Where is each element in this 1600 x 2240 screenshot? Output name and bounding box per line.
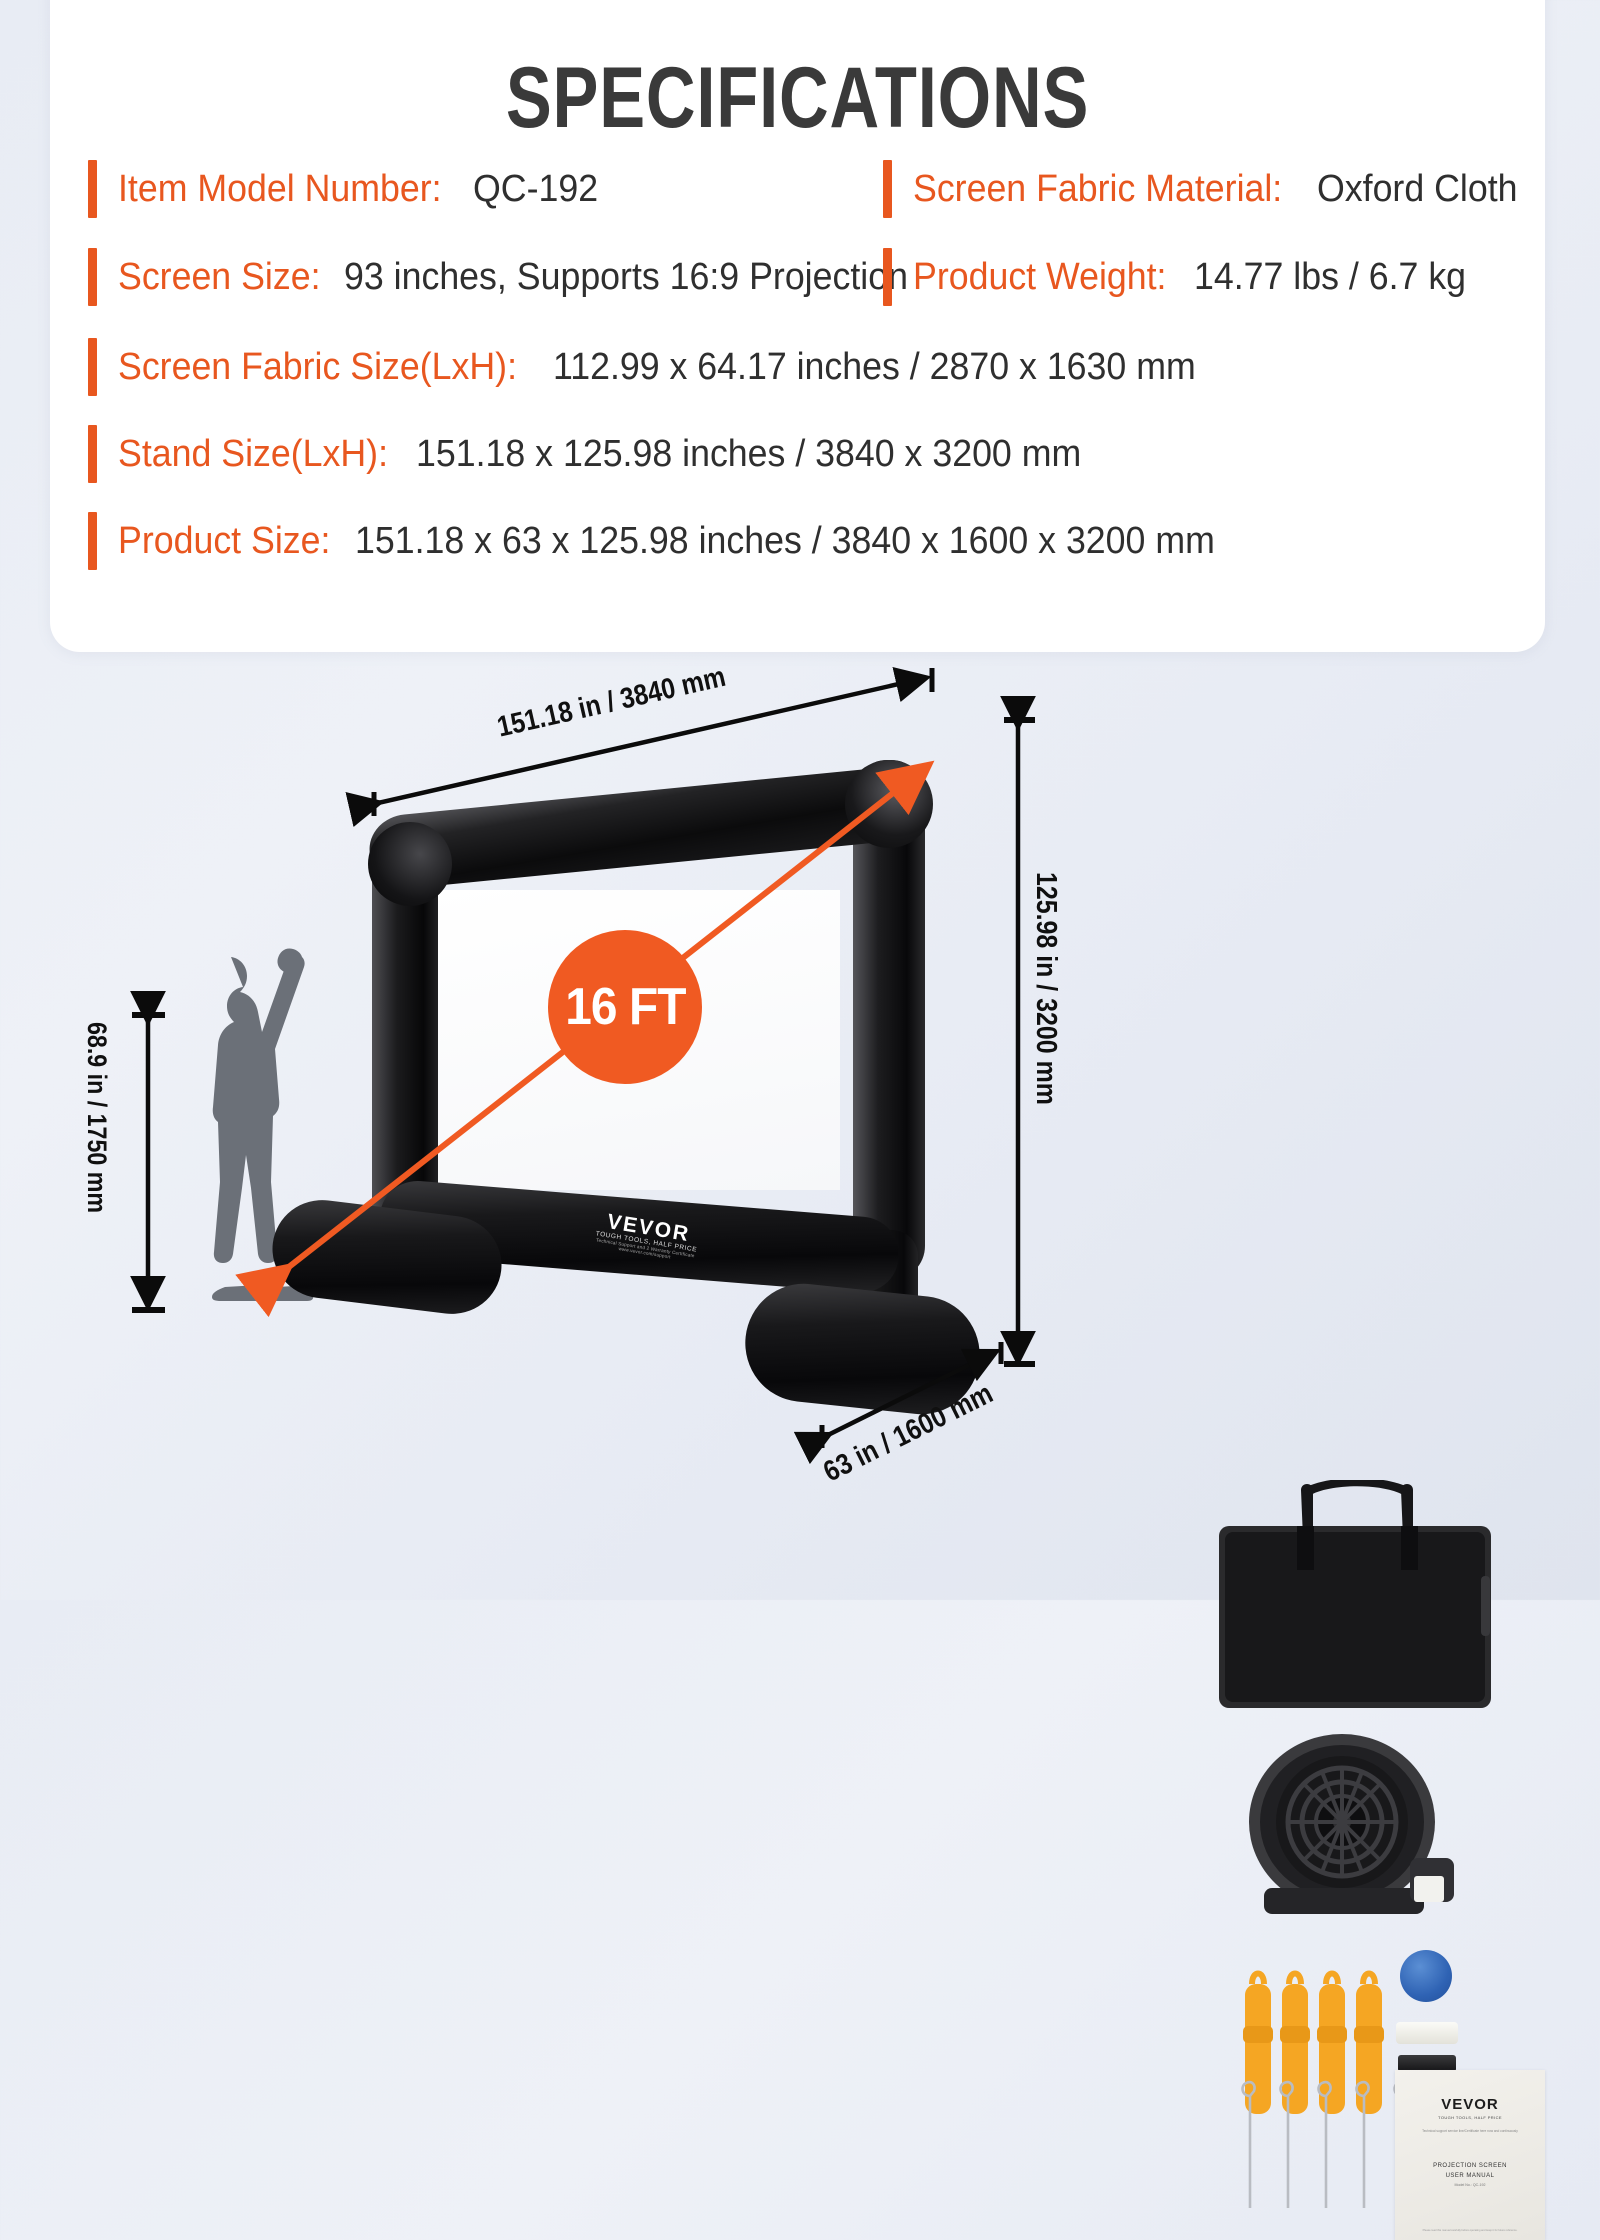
accent-tick-icon	[88, 248, 97, 306]
manual-model-line: Model No.: QC-192	[1455, 2183, 1486, 2187]
accent-tick-icon	[883, 248, 892, 306]
spec-label: Screen Fabric Material:	[913, 168, 1282, 211]
spec-row-product-weight: Product Weight: 14.77 lbs / 6.7 kg	[883, 248, 1483, 306]
spec-label: Product Weight:	[913, 256, 1166, 299]
spec-value: 112.99 x 64.17 inches / 2870 x 1630 mm	[553, 346, 1196, 389]
accent-tick-icon	[88, 160, 97, 218]
badge-label: 16 FT	[565, 977, 685, 1037]
spec-value: 14.77 lbs / 6.7 kg	[1194, 256, 1466, 299]
manual-title-line-1: PROJECTION SCREEN	[1433, 2163, 1507, 2169]
spec-label: Product Size:	[118, 520, 330, 563]
manual-tagline: TOUGH TOOLS, HALF PRICE	[1438, 2115, 1502, 2120]
spec-value: 151.18 x 63 x 125.98 inches / 3840 x 160…	[355, 520, 1215, 563]
spec-row-screen-fabric-material: Screen Fabric Material: Oxford Cloth	[883, 160, 1530, 218]
manual-brand: VEVOR	[1441, 2096, 1499, 2113]
frame-top-beam	[366, 763, 933, 891]
spec-row-stand-size: Stand Size(LxH): 151.18 x 125.98 inches …	[88, 425, 1124, 483]
repair-patch-kit	[1400, 1950, 1452, 2002]
page-title: SPECIFICATIONS	[200, 55, 1396, 141]
person-height-dimension-label: 68.9 in / 1750 mm	[81, 1022, 112, 1213]
spec-value: QC-192	[473, 168, 598, 211]
spec-row-product-size: Product Size: 151.18 x 63 x 125.98 inche…	[88, 512, 1270, 570]
manual-thin-line: Technical support service line/Certifica…	[1422, 2129, 1518, 2133]
spec-label: Stand Size(LxH):	[118, 433, 388, 476]
ground-stake	[1238, 2080, 1262, 2210]
spec-label: Item Model Number:	[118, 168, 442, 211]
spec-row-screen-size: Screen Size: 93 inches, Supports 16:9 Pr…	[88, 248, 944, 306]
frame-corner-top-right	[845, 760, 933, 848]
accent-tick-icon	[883, 160, 892, 218]
manual-footer: Please read this manual carefully before…	[1423, 2229, 1518, 2233]
accent-tick-icon	[88, 338, 97, 396]
frame-corner-top-left	[368, 822, 452, 906]
spec-label: Screen Fabric Size(LxH):	[118, 346, 517, 389]
spec-value: 151.18 x 125.98 inches / 3840 x 3200 mm	[416, 433, 1081, 476]
ground-stake	[1276, 2080, 1300, 2210]
product-illustration: VEVOR TOUGH TOOLS, HALF PRICE Technical …	[0, 650, 1600, 1600]
spec-row-item-model-number: Item Model Number: QC-192	[88, 160, 606, 218]
ground-stake	[1352, 2080, 1376, 2210]
carry-bag	[1205, 1480, 1505, 1715]
vevor-logo-on-frame: VEVOR TOUGH TOOLS, HALF PRICE Technical …	[575, 1207, 719, 1267]
thread-spool	[1396, 2022, 1458, 2044]
user-manual-booklet: VEVOR TOUGH TOOLS, HALF PRICE Technical …	[1395, 2070, 1545, 2240]
spec-row-screen-fabric-size: Screen Fabric Size(LxH): 112.99 x 64.17 …	[88, 338, 1237, 396]
accent-tick-icon	[88, 512, 97, 570]
height-dimension-label: 125.98 in / 3200 mm	[1029, 872, 1062, 1105]
manual-title-line-2: USER MANUAL	[1446, 2173, 1495, 2179]
accent-tick-icon	[88, 425, 97, 483]
specifications-card: SPECIFICATIONS Item Model Number: QC-192…	[50, 0, 1545, 652]
spec-value: Oxford Cloth	[1317, 168, 1518, 211]
screen-size-badge: 16 FT	[548, 930, 702, 1084]
spec-value: 93 inches, Supports 16:9 Projection	[344, 256, 908, 299]
spec-label: Screen Size:	[118, 256, 321, 299]
inflation-blower-fan	[1242, 1730, 1457, 1930]
ground-stake	[1314, 2080, 1338, 2210]
